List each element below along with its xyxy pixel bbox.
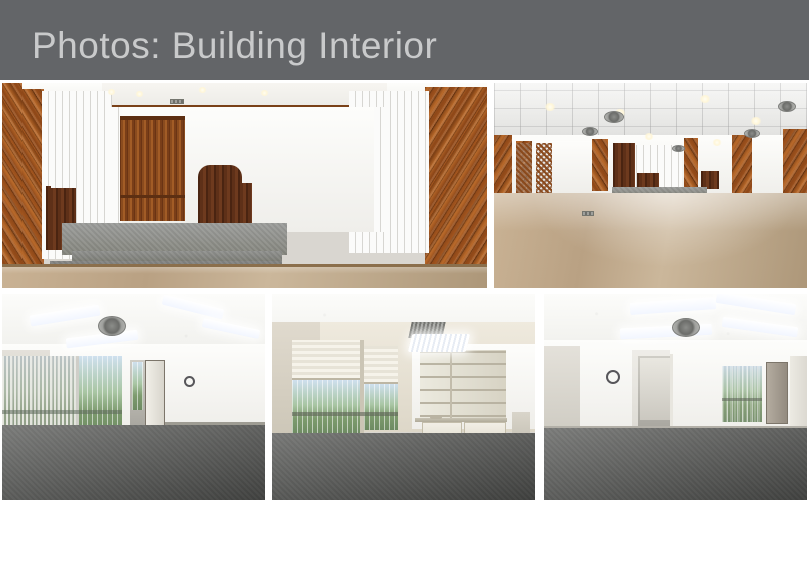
wall-clock-icon: [606, 370, 620, 384]
photo-chapel-sanctuary[interactable]: [2, 83, 487, 288]
page-header: Photos: Building Interior: [0, 0, 809, 80]
page-footer: 14 All information furnished regarding p…: [0, 500, 809, 588]
photo-open-hall[interactable]: [494, 83, 807, 288]
photo-office-sliding-door[interactable]: [2, 294, 265, 500]
page-title: Photos: Building Interior: [32, 24, 437, 68]
photo-gallery: [0, 80, 809, 500]
photo-office-wall-clock[interactable]: [544, 294, 807, 500]
photo-office-builtin-shelving[interactable]: [272, 294, 535, 500]
wall-clock-icon: [184, 376, 195, 387]
brochure-page: Photos: Building Interior: [0, 0, 809, 588]
